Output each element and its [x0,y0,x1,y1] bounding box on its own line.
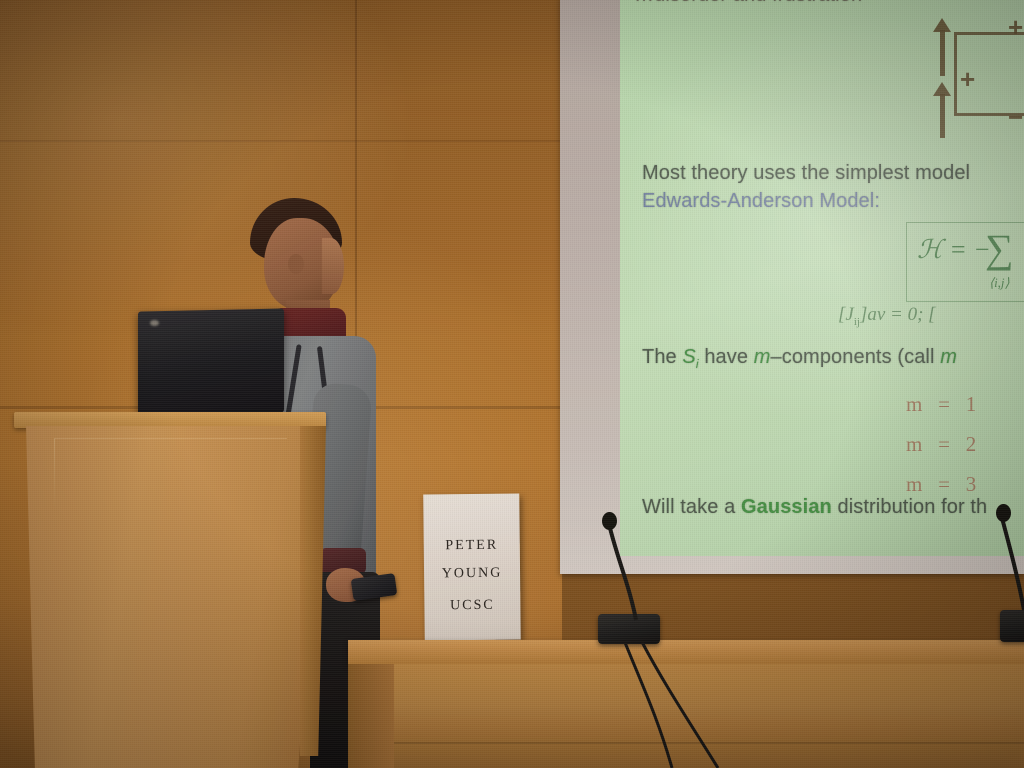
microphone-gooseneck-right [990,506,1024,616]
spin-symbol: S [682,346,695,368]
bond-sign-top-right: + [1008,14,1023,40]
summation-subscript: ⟨i,j⟩ [989,275,1010,291]
lecture-photo: …disorder and frustration + + − Most the… [0,0,1024,768]
components-suffix: –components (call [771,346,941,368]
bond-sign-bottom-right: − [1008,104,1023,130]
m-value-row-3: m = 3 [906,472,976,497]
microphone-capsule-right [996,504,1011,522]
components-middle: have [699,346,754,368]
slide-line-most-theory: Most theory uses the simplest model [642,162,970,185]
bond-sign-left: + [960,66,975,92]
slide-line-components: The Si have m–components (call m [642,346,957,371]
coupling-rest: ]av = 0; [ [860,304,936,325]
name-card-affiliation: UCSC [424,597,520,614]
gaussian-suffix: distribution for th [832,496,987,518]
m-val-1: 1 [966,392,977,416]
m-value-row-2: m = 2 [906,432,976,457]
projected-slide: …disorder and frustration + + − Most the… [620,0,1024,556]
m-label-1: m [906,392,922,416]
speaker-ear [288,254,304,274]
podium-top-surface [14,412,326,428]
summation-symbol: ∑ [985,225,1014,272]
microphone-gooseneck-left [592,514,672,624]
components-prefix: The [642,346,682,368]
m-val-2: 2 [966,432,977,456]
m-eq-3: = [938,472,950,496]
laptop-screen[interactable] [138,308,284,415]
m-label-2: m [906,432,922,456]
name-card-first-name: PETER [424,537,520,554]
microphone-cables [600,640,820,768]
frustrated-plaquette-diagram: + + − [930,18,1024,140]
m-eq-1: = [938,392,950,416]
m-val-3: 3 [966,472,977,496]
hamiltonian-lhs: ℋ = − [917,235,991,265]
coupling-j-bracket: [J [838,304,854,325]
name-card-last-name: YOUNG [424,565,520,582]
slide-line-top-cut: …disorder and frustration [634,0,862,7]
hamiltonian-equation-box: ℋ = − ∑ ⟨i,j⟩ [906,222,1024,302]
slide-line-gaussian: Will take a Gaussian distribution for th [642,496,987,519]
microphone-capsule-left [602,512,617,530]
slide-line-edwards-anderson: Edwards-Anderson Model: [642,190,880,213]
wall-seam-horizontal-upper [0,140,562,142]
gaussian-highlight: Gaussian [741,496,832,518]
speaker-name-card: PETER YOUNG UCSC [423,494,521,641]
m-label-3: m [906,472,922,496]
m-value-row-1: m = 1 [906,392,976,417]
m-symbol: m [754,346,771,368]
m-symbol-tail: m [940,346,957,368]
coupling-moment-line: [Jij]av = 0; [ [838,304,936,328]
laptop-glint [150,320,159,326]
podium-panel-bevel [54,438,287,768]
m-eq-2: = [938,432,950,456]
table-leg [348,664,394,768]
